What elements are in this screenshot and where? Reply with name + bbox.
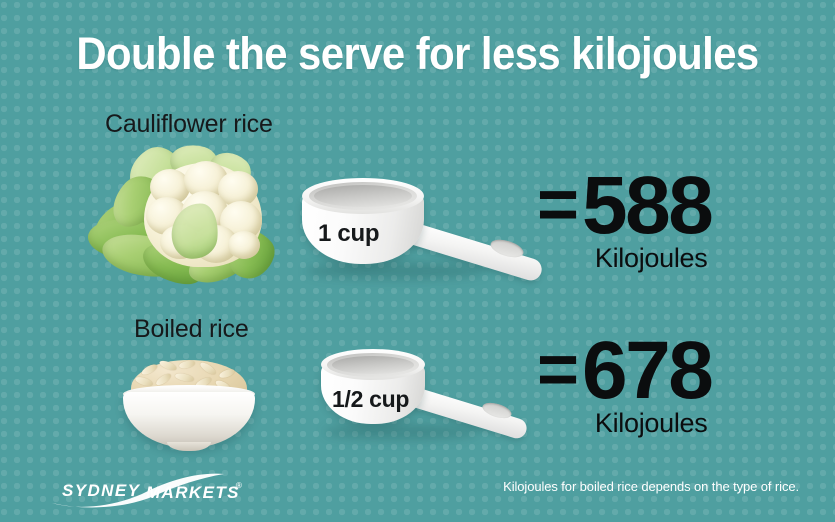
logo-text-markets: MARKETS [146, 483, 240, 502]
row-label-cauliflower: Cauliflower rice [105, 110, 273, 139]
kilojoule-value: 588 [582, 172, 711, 239]
value-block-cauliflower: = 588 Kilojoules [537, 172, 711, 274]
kilojoule-value: 678 [582, 337, 711, 404]
cauliflower-image [88, 145, 278, 280]
equals-sign: = [537, 176, 578, 235]
row-label-boiled-rice: Boiled rice [134, 315, 249, 344]
infographic-poster: Double the serve for less kilojoules Cau… [0, 0, 835, 522]
value-block-boiled-rice: = 678 Kilojoules [537, 337, 711, 439]
footnote-text: Kilojoules for boiled rice depends on th… [503, 479, 799, 494]
measuring-cup-half-cup: 1/2 cup [316, 342, 528, 446]
sydney-markets-logo[interactable]: SYDNEY MARKETS ® [48, 472, 248, 512]
cup-label-1-cup: 1 cup [318, 220, 379, 248]
kilojoule-unit-label: Kilojoules [537, 408, 711, 439]
equals-sign: = [537, 341, 578, 400]
logo-text-sydney: SYDNEY [62, 481, 141, 500]
logo-trademark-symbol: ® [236, 481, 242, 490]
cup-label-half-cup: 1/2 cup [332, 386, 409, 413]
bowl-body [123, 392, 255, 448]
measuring-cup-1-cup: 1 cup [296, 170, 546, 288]
page-title: Double the serve for less kilojoules [29, 28, 806, 80]
kilojoule-unit-label: Kilojoules [537, 243, 711, 274]
rice-bowl-image [115, 352, 263, 452]
bowl-foot [167, 442, 211, 451]
